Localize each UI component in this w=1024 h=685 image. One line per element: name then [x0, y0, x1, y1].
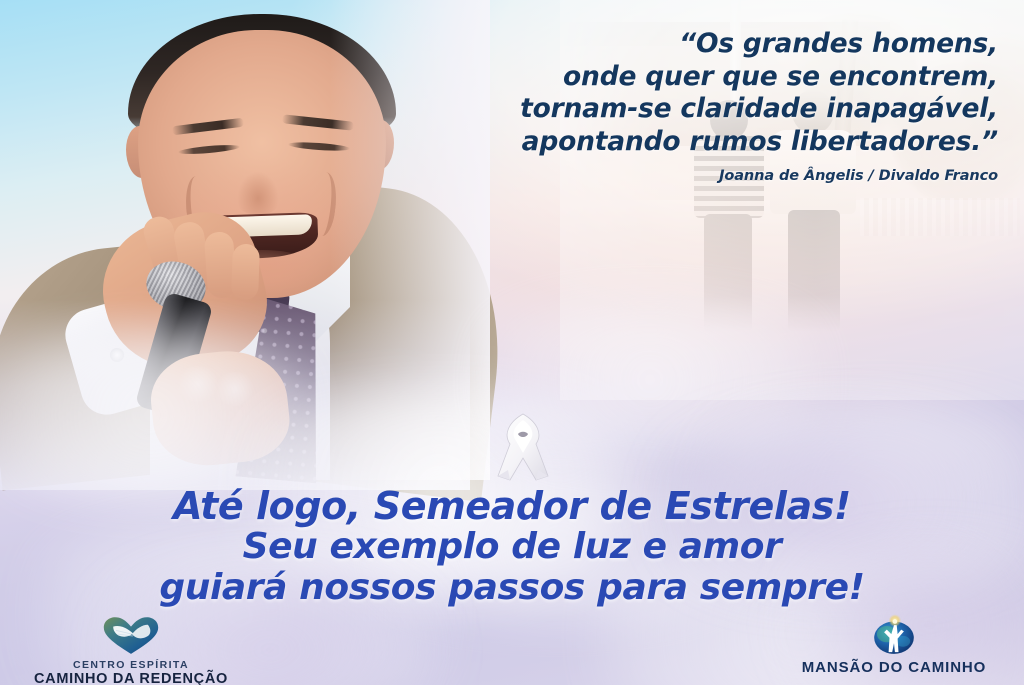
quote-line-4: apontando rumos libertadores.” [430, 126, 998, 159]
quote-line-1: “Os grandes homens, [430, 28, 998, 61]
footer-left-line-1: CENTRO ESPÍRITA [6, 659, 256, 671]
portrait-photo [0, 0, 470, 470]
headline-text: Até logo, Semeador de Estrelas! Seu exem… [0, 485, 1024, 609]
portrait-nose [232, 152, 284, 214]
white-mourning-ribbon-icon [484, 408, 562, 488]
headline-line-1: Até logo, Semeador de Estrelas! [0, 485, 1024, 527]
mansao-globe-logo-icon [867, 614, 921, 656]
footer-left-line-2: CAMINHO DA REDENÇÃO [6, 671, 256, 685]
heart-hands-logo-icon [101, 616, 161, 656]
headline-line-3: guiará nossos passos para sempre! [0, 567, 1024, 609]
footer-logo-centro-espirita[interactable]: CENTRO ESPÍRITA CAMINHO DA REDENÇÃO [6, 616, 256, 685]
portrait-finger [231, 244, 260, 301]
quote-author: Joanna de Ângelis / Divaldo Franco [430, 168, 998, 184]
quote-line-3: tornam-se claridade inapagável, [430, 93, 998, 126]
footer-right-label: MANSÃO DO CAMINHO [774, 659, 1014, 676]
memorial-poster: “Os grandes homens, onde quer que se enc… [0, 0, 1024, 685]
quote-line-2: onde quer que se encontrem, [430, 61, 998, 94]
headline-line-2: Seu exemplo de luz e amor [0, 527, 1024, 567]
quote-text: “Os grandes homens, onde quer que se enc… [430, 28, 998, 158]
footer-logo-mansao-do-caminho[interactable]: MANSÃO DO CAMINHO [774, 614, 1014, 676]
